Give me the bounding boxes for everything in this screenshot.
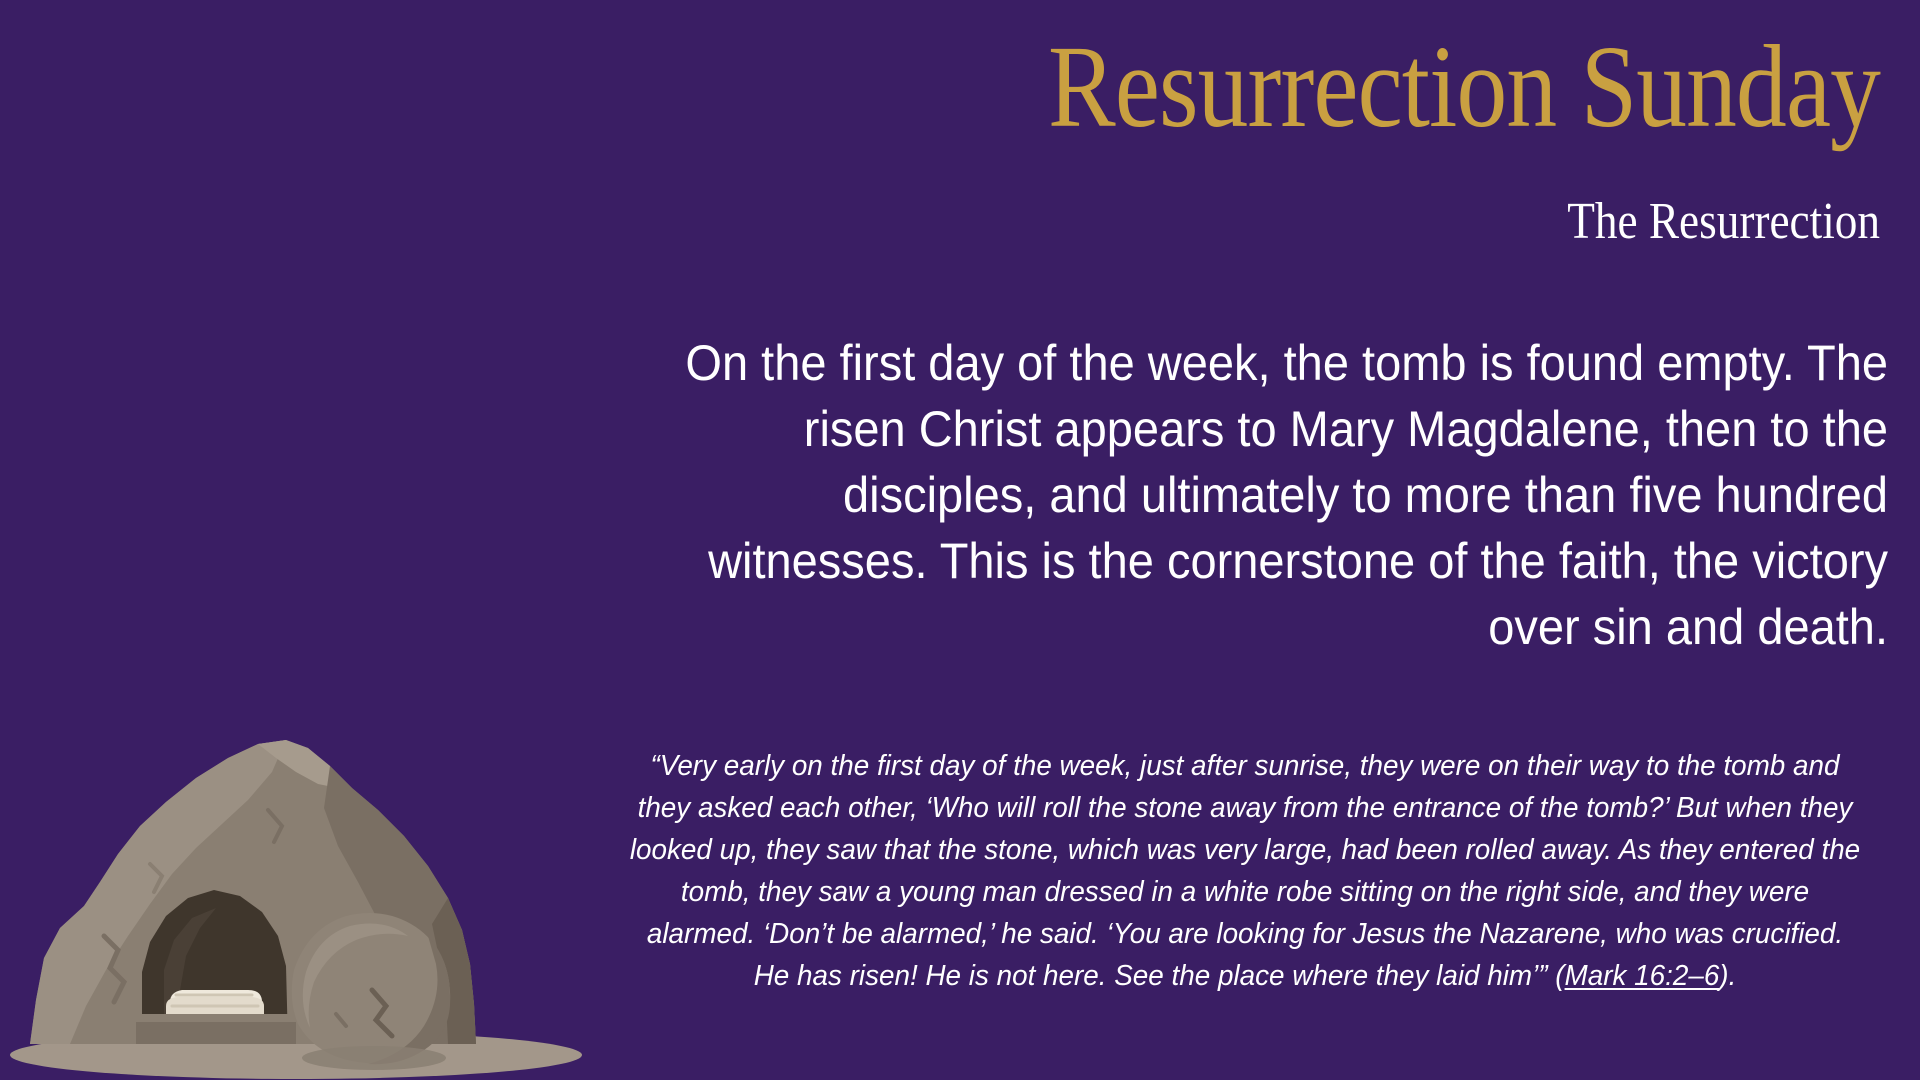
page-title: Resurrection Sunday: [435, 28, 1880, 146]
scripture-quote-closing: ).: [1719, 960, 1736, 992]
scripture-quote-text: “Very early on the first day of the week…: [630, 750, 1860, 992]
slide-canvas: Resurrection Sunday The Resurrection On …: [0, 0, 1920, 1080]
scripture-reference: Mark 16:2–6: [1565, 960, 1720, 992]
empty-tomb-illustration: [0, 714, 600, 1080]
tomb-ledge-top-icon: [136, 1014, 296, 1022]
rolled-stone-contact-shadow-icon: [302, 1046, 446, 1070]
page-subtitle: The Resurrection: [592, 196, 1880, 248]
burial-cloths-icon: [166, 990, 264, 1014]
body-paragraph: On the first day of the week, the tomb i…: [628, 330, 1888, 660]
scripture-quote: “Very early on the first day of the week…: [626, 745, 1864, 997]
